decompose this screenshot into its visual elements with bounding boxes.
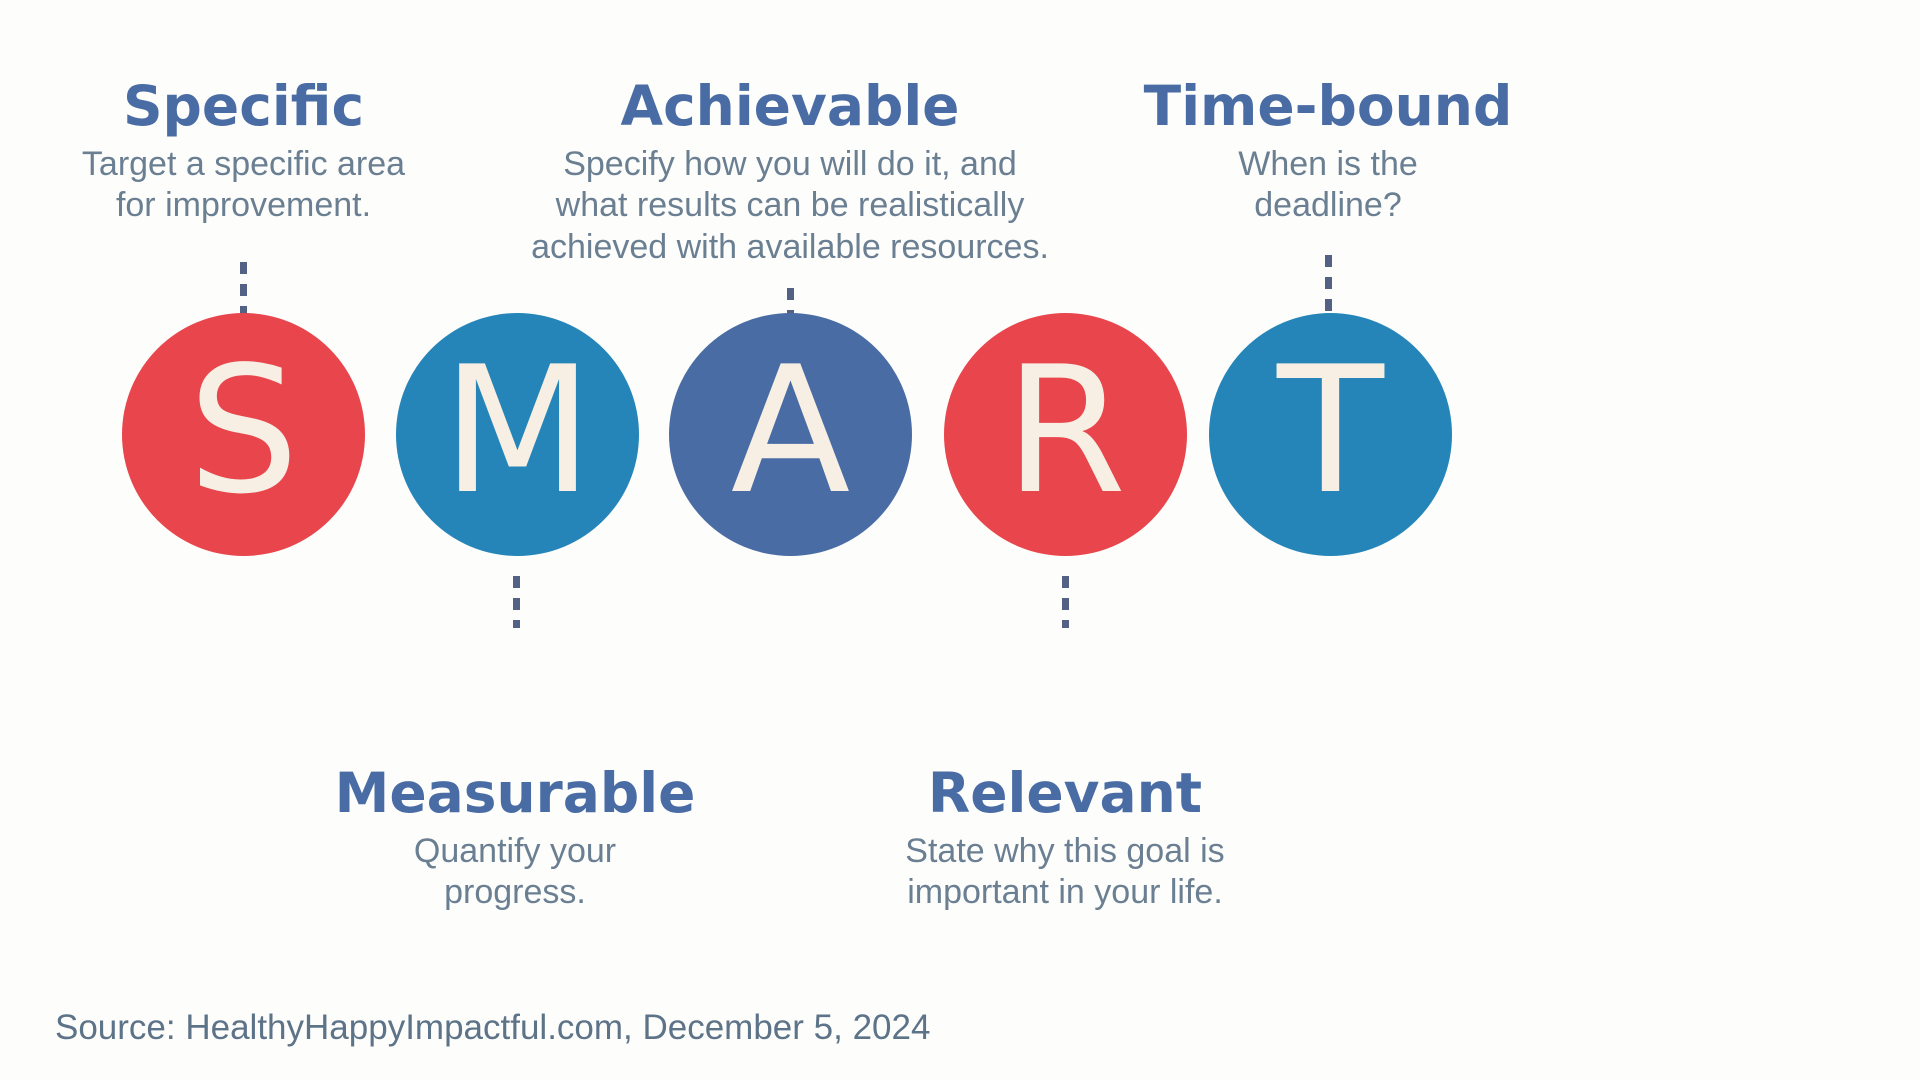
circle-letter-t: T — [1277, 344, 1384, 519]
block-timebound: Time-bound When is the deadline? — [1080, 78, 1576, 227]
block-measurable: Measurable Quantify your progress. — [275, 765, 755, 914]
block-specific: Specific Target a specific area for impr… — [0, 78, 487, 227]
description-achievable: Specify how you will do it, and what res… — [490, 144, 1090, 268]
title-measurable: Measurable — [275, 765, 755, 823]
circle-t: T — [1209, 313, 1452, 556]
circle-letter-r: R — [1005, 344, 1127, 519]
connector-relevant — [1062, 576, 1069, 628]
title-timebound: Time-bound — [1080, 78, 1576, 136]
circle-s: S — [122, 313, 365, 556]
source-attribution: Source: HealthyHappyImpactful.com, Decem… — [55, 1008, 930, 1048]
smart-goals-infographic: Specific Target a specific area for impr… — [0, 0, 1920, 1080]
description-timebound: When is the deadline? — [1080, 144, 1576, 227]
description-relevant: State why this goal is important in your… — [825, 831, 1305, 914]
connector-timebound — [1325, 255, 1332, 317]
circle-m: M — [396, 313, 639, 556]
description-measurable: Quantify your progress. — [275, 831, 755, 914]
title-achievable: Achievable — [490, 78, 1090, 136]
title-specific: Specific — [0, 78, 487, 136]
circle-r: R — [944, 313, 1187, 556]
circle-letter-s: S — [188, 344, 299, 519]
circle-letter-a: A — [731, 344, 851, 519]
title-relevant: Relevant — [825, 765, 1305, 823]
circle-letter-m: M — [442, 344, 593, 519]
connector-measurable — [513, 576, 520, 628]
connector-specific — [240, 262, 247, 314]
circle-a: A — [669, 313, 912, 556]
description-specific: Target a specific area for improvement. — [0, 144, 487, 227]
block-achievable: Achievable Specify how you will do it, a… — [490, 78, 1090, 268]
block-relevant: Relevant State why this goal is importan… — [825, 765, 1305, 914]
